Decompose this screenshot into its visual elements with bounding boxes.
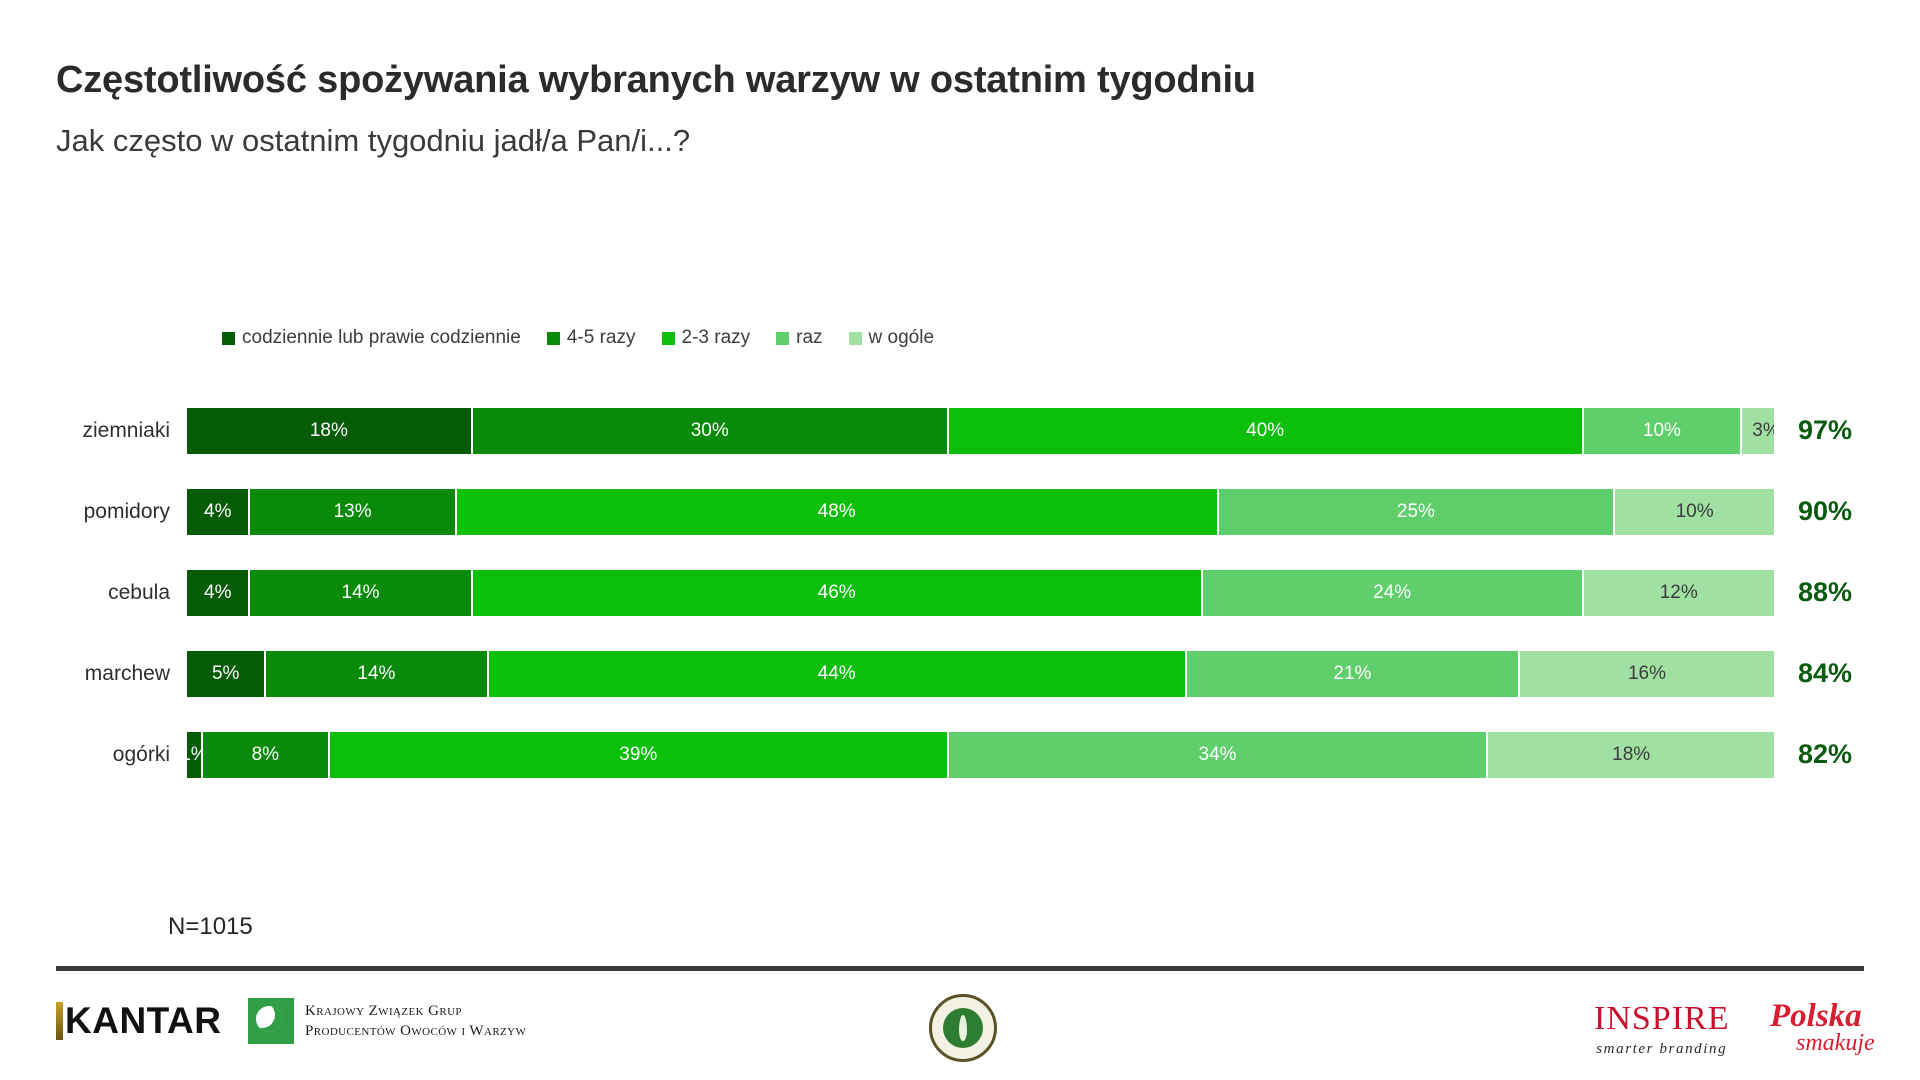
footer: KANTAR Krajowy Związek Grup Producentów …: [0, 980, 1920, 1080]
inspire-tagline: smarter branding: [1594, 1041, 1729, 1058]
bar-segment[interactable]: 39%: [330, 732, 949, 778]
bar-segment[interactable]: 14%: [250, 570, 472, 616]
legend-item[interactable]: 2-3 razy: [662, 327, 751, 349]
kzgpow-line-1: Krajowy Związek Grup: [305, 1003, 462, 1019]
bar-segment[interactable]: 25%: [1219, 489, 1616, 535]
bar-segment-value: 34%: [1199, 745, 1237, 764]
bar-segment[interactable]: 13%: [250, 489, 456, 535]
bar-segment-value: 48%: [818, 502, 856, 521]
bar-segment-value: 21%: [1333, 664, 1371, 683]
smakuje-wordmark: smakuje: [1796, 1031, 1875, 1055]
bar-segment-value: 10%: [1643, 421, 1681, 440]
category-label: ziemniaki: [56, 419, 187, 443]
inspire-wordmark: INSPIRE: [1594, 1002, 1729, 1036]
bar-segment[interactable]: 10%: [1584, 408, 1743, 454]
bar-segment[interactable]: 12%: [1584, 570, 1774, 616]
bar-segment[interactable]: 1%: [187, 732, 203, 778]
sample-size-note: N=1015: [168, 913, 253, 941]
bar-segment-value: 8%: [252, 745, 279, 764]
page-title: Częstotliwość spożywania wybranych warzy…: [56, 60, 1856, 102]
chart-row: ogórki1%8%39%34%18%82%: [56, 714, 1866, 795]
stacked-bar: 4%13%48%25%10%: [187, 489, 1774, 535]
stacked-bar: 4%14%46%24%12%: [187, 570, 1774, 616]
bar-segment[interactable]: 34%: [949, 732, 1489, 778]
chart-row: ziemniaki18%30%40%10%3%97%: [56, 390, 1866, 471]
legend-label: 4-5 razy: [567, 327, 636, 349]
apple-leaf-icon: [248, 998, 294, 1044]
row-total-value: 97%: [1774, 415, 1866, 446]
legend-swatch-icon: [547, 332, 560, 345]
legend-swatch-icon: [849, 332, 862, 345]
stacked-bar-chart: ziemniaki18%30%40%10%3%97%pomidory4%13%4…: [56, 390, 1866, 795]
kantar-logo: KANTAR: [56, 1002, 221, 1040]
bar-segment[interactable]: 30%: [473, 408, 949, 454]
category-label: cebula: [56, 581, 187, 605]
legend-item[interactable]: 4-5 razy: [547, 327, 636, 349]
bar-segment-value: 24%: [1373, 583, 1411, 602]
legend-label: 2-3 razy: [682, 327, 751, 349]
bar-segment[interactable]: 3%: [1742, 408, 1774, 454]
bar-segment[interactable]: 46%: [473, 570, 1203, 616]
bar-segment-value: 14%: [357, 664, 395, 683]
bar-segment[interactable]: 16%: [1520, 651, 1774, 697]
bar-segment-value: 25%: [1397, 502, 1435, 521]
bar-segment[interactable]: 10%: [1615, 489, 1774, 535]
footer-divider: [56, 966, 1864, 971]
bar-segment[interactable]: 21%: [1187, 651, 1520, 697]
bar-segment[interactable]: 24%: [1203, 570, 1584, 616]
category-label: ogórki: [56, 743, 187, 767]
kzgpow-line-2: Producentów Owoców i Warzyw: [305, 1023, 526, 1039]
row-total-value: 90%: [1774, 496, 1866, 527]
page-header: Częstotliwość spożywania wybranych warzy…: [56, 60, 1856, 158]
bar-segment[interactable]: 14%: [266, 651, 488, 697]
bar-segment[interactable]: 18%: [187, 408, 473, 454]
bar-segment-value: 5%: [212, 664, 239, 683]
bar-segment-value: 4%: [204, 583, 231, 602]
bar-segment-value: 18%: [1612, 745, 1650, 764]
seal-emblem-inner: [943, 1008, 983, 1048]
bar-segment-value: 39%: [619, 745, 657, 764]
page-subtitle: Jak często w ostatnim tygodniu jadł/a Pa…: [56, 124, 1856, 158]
kantar-wordmark: KANTAR: [65, 1002, 221, 1040]
seal-emblem-icon: [929, 994, 997, 1062]
bar-segment[interactable]: 4%: [187, 489, 250, 535]
legend-swatch-icon: [222, 332, 235, 345]
bar-segment[interactable]: 5%: [187, 651, 266, 697]
legend-label: raz: [796, 327, 822, 349]
bar-segment-value: 46%: [818, 583, 856, 602]
bar-segment-value: 10%: [1676, 502, 1714, 521]
chart-legend: codziennie lub prawie codziennie4-5 razy…: [222, 327, 934, 349]
bar-segment[interactable]: 48%: [457, 489, 1219, 535]
row-total-value: 82%: [1774, 739, 1866, 770]
kzgpow-wordmark: Krajowy Związek Grup Producentów Owoców …: [305, 1001, 526, 1042]
bar-segment[interactable]: 18%: [1488, 732, 1774, 778]
category-label: marchew: [56, 662, 187, 686]
bar-segment-value: 13%: [334, 502, 372, 521]
kantar-accent-bar: [56, 1002, 63, 1040]
bar-segment-value: 14%: [342, 583, 380, 602]
bar-segment-value: 16%: [1628, 664, 1666, 683]
polska-smakuje-logo: Polska smakuje: [1770, 1000, 1875, 1055]
bar-segment[interactable]: 44%: [489, 651, 1187, 697]
bar-segment-value: 1%: [187, 745, 203, 764]
stacked-bar: 1%8%39%34%18%: [187, 732, 1774, 778]
legend-item[interactable]: w ogóle: [849, 327, 935, 349]
bar-segment-value: 44%: [818, 664, 856, 683]
bar-segment-value: 40%: [1246, 421, 1284, 440]
bar-segment[interactable]: 4%: [187, 570, 250, 616]
row-total-value: 84%: [1774, 658, 1866, 689]
chart-row: pomidory4%13%48%25%10%90%: [56, 471, 1866, 552]
legend-swatch-icon: [662, 332, 675, 345]
bar-segment-value: 3%: [1752, 421, 1774, 440]
polska-wordmark: Polska: [1770, 1000, 1875, 1033]
legend-label: codziennie lub prawie codziennie: [242, 327, 521, 349]
chart-row: marchew5%14%44%21%16%84%: [56, 633, 1866, 714]
legend-item[interactable]: raz: [776, 327, 822, 349]
kzgpow-logo: Krajowy Związek Grup Producentów Owoców …: [248, 998, 526, 1044]
bar-segment[interactable]: 8%: [203, 732, 330, 778]
legend-swatch-icon: [776, 332, 789, 345]
chart-row: cebula4%14%46%24%12%88%: [56, 552, 1866, 633]
inspire-logo: INSPIRE smarter branding: [1594, 1002, 1729, 1058]
stacked-bar: 18%30%40%10%3%: [187, 408, 1774, 454]
legend-item[interactable]: codziennie lub prawie codziennie: [222, 327, 521, 349]
bar-segment-value: 18%: [310, 421, 348, 440]
bar-segment-value: 4%: [204, 502, 231, 521]
category-label: pomidory: [56, 500, 187, 524]
bar-segment-value: 12%: [1660, 583, 1698, 602]
bar-segment-value: 30%: [691, 421, 729, 440]
stacked-bar: 5%14%44%21%16%: [187, 651, 1774, 697]
legend-label: w ogóle: [869, 327, 935, 349]
bar-segment[interactable]: 40%: [949, 408, 1584, 454]
row-total-value: 88%: [1774, 577, 1866, 608]
